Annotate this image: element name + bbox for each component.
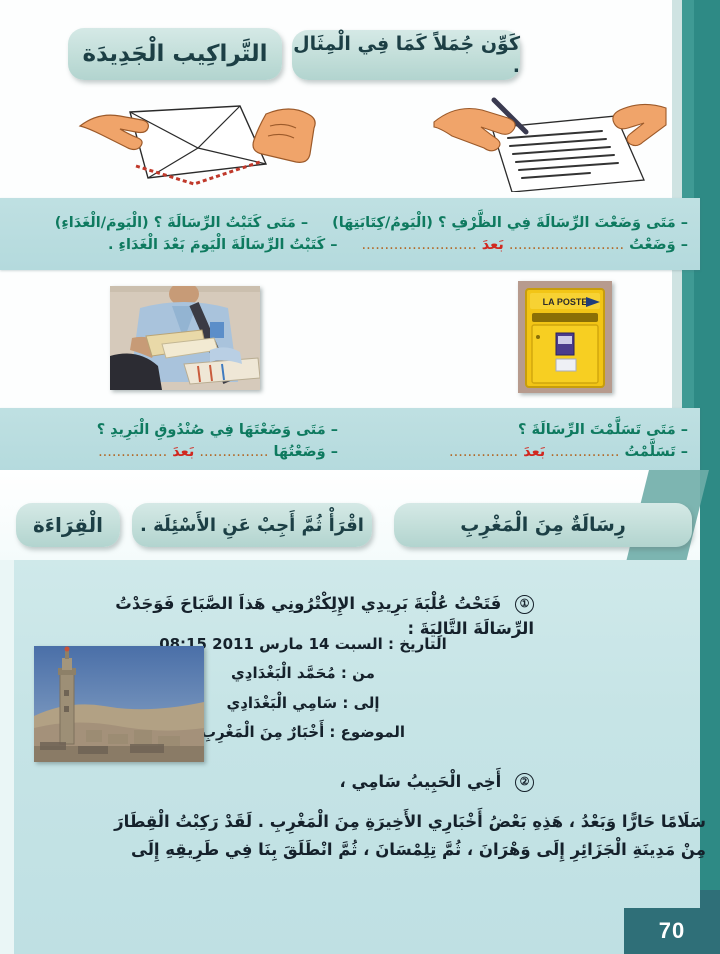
textbook-page: التَّراكِيب الْجَدِيدَة كَوِّن جُمَلاً ك… xyxy=(0,0,720,954)
reading-body: سَلَامًا حَارًّا وَبَعْدُ ، هَذِهِ بَعْض… xyxy=(30,808,706,865)
hands-with-envelope xyxy=(70,92,320,188)
lesson-title-pill: رِسَالَةٌ مِنَ الْمَغْرِبِ xyxy=(394,503,692,547)
exercise1-blank-a[interactable]: ......................... xyxy=(509,237,624,253)
hand-writing-letter xyxy=(430,88,670,192)
exercise1-blank-b[interactable]: ......................... xyxy=(361,237,476,253)
exercise2-left-blank-b[interactable]: ............... xyxy=(449,444,518,460)
exercise2-right-answer-prefix: – وَضَعْتُهَا xyxy=(274,444,338,460)
reading-body-line-2: مِنْ مَدِينَةِ الْجَزَائِرِ إِلَى وَهْرَ… xyxy=(30,836,706,864)
reading-title-text: الْقِرَاءَة xyxy=(33,513,103,537)
exercise2-left-answer-prefix: – تَسَلَّمْتُ xyxy=(625,444,689,460)
exercise2-left-question: – مَتَى تَسَلَّمْتَ الرِّسَالَةَ ؟ xyxy=(362,419,688,441)
exercise1-task-question: – مَتَى وَضَعْتَ الرِّسَالَةَ فِي الظَّر… xyxy=(332,212,688,234)
exercise1-example-answer-cell: – كَتَبْتُ الرِّسَالَةَ الْيَومَ بَعْدَ … xyxy=(0,234,349,256)
exercise1-answer-row: – وَضَعْتُ ......................... بَع… xyxy=(0,234,700,256)
reading-left-margin xyxy=(0,560,14,954)
exercise2-right-blank-a[interactable]: ............... xyxy=(199,444,268,460)
exercise1-task-question-cell: – مَتَى وَضَعْتَ الرِّسَالَةَ فِي الظَّر… xyxy=(320,212,700,234)
exercise2-left-blank-a[interactable]: ............... xyxy=(550,444,619,460)
section-title-pill: التَّراكِيب الْجَدِيدَة xyxy=(68,28,282,80)
mailbox-photo: LA POSTE xyxy=(518,281,612,393)
exercise1-task-answer-prefix: – وَضَعْتُ xyxy=(629,237,688,253)
page-number: 70 xyxy=(624,908,720,954)
postman-photo xyxy=(110,286,260,390)
exercise2-left-answer-cell[interactable]: – تَسَلَّمْتُ ............... بَعدَ ....… xyxy=(350,441,700,463)
minaret-city-photo xyxy=(34,646,204,762)
exercise2-right-answer-cell[interactable]: – وَضَعْتُهَا ............... بَعدَ ....… xyxy=(0,441,350,463)
section-title-text: التَّراكِيب الْجَدِيدَة xyxy=(82,41,267,67)
exercise2-left-question-cell: – مَتَى تَسَلَّمْتَ الرِّسَالَةَ ؟ xyxy=(350,419,700,441)
page-number-text: 70 xyxy=(659,918,685,944)
reading-instruction-pill: اقْرَأْ ثُمَّ أَجِبْ عَنِ الأَسْئِلَة . xyxy=(132,503,372,547)
exercise-band-2: – مَتَى تَسَلَّمْتَ الرِّسَالَةَ ؟ – مَت… xyxy=(0,408,700,474)
reading-instruction-text: اقْرَأْ ثُمَّ أَجِبْ عَنِ الأَسْئِلَة . xyxy=(140,515,364,536)
exercise1-question-row: – مَتَى وَضَعْتَ الرِّسَالَةَ فِي الظَّر… xyxy=(0,212,700,234)
exercise2-answer-row: – تَسَلَّمْتُ ............... بَعدَ ....… xyxy=(0,441,700,463)
exercise2-right-question: – مَتَى وَضَعْتَهَا فِي صُنْدُوقِ الْبَر… xyxy=(12,419,338,441)
item-number-2: ② xyxy=(515,773,534,792)
instruction-pill: كَوِّن جُمَلاً كَمَا فِي الْمِثَال . xyxy=(292,30,520,80)
exercise-band-1: – مَتَى وَضَعْتَ الرِّسَالَةَ فِي الظَّر… xyxy=(0,198,700,270)
exercise2-right-answer-mid: بَعدَ xyxy=(172,444,194,460)
lesson-title-text: رِسَالَةٌ مِنَ الْمَغْرِبِ xyxy=(460,514,626,536)
exercise1-example-question-cell: – مَتَى كَتَبْتُ الرِّسَالَةَ ؟ (الْيَوم… xyxy=(0,212,320,234)
exercise1-example-answer: – كَتَبْتُ الرِّسَالَةَ الْيَومَ بَعْدَ … xyxy=(12,234,337,256)
reading-item-2: ② أَخِي الْحَبِيبُ سَامِي ، xyxy=(64,772,534,792)
exercise2-right-question-cell: – مَتَى وَضَعْتَهَا فِي صُنْدُوقِ الْبَر… xyxy=(0,419,350,441)
exercise2-left-answer-mid: بَعدَ xyxy=(523,444,545,460)
instruction-text: كَوِّن جُمَلاً كَمَا فِي الْمِثَال . xyxy=(292,33,520,77)
exercise1-example-question: – مَتَى كَتَبْتُ الرِّسَالَةَ ؟ (الْيَوم… xyxy=(12,212,308,234)
exercise1-task-answer-mid: بَعدَ xyxy=(482,237,504,253)
reading-salutation: أَخِي الْحَبِيبُ سَامِي ، xyxy=(339,772,501,791)
exercise1-task-answer-cell[interactable]: – وَضَعْتُ ......................... بَع… xyxy=(349,234,700,256)
item-number-1: ① xyxy=(515,595,534,614)
exercise2-question-row: – مَتَى تَسَلَّمْتَ الرِّسَالَةَ ؟ – مَت… xyxy=(0,419,700,441)
reading-body-line-1: سَلَامًا حَارًّا وَبَعْدُ ، هَذِهِ بَعْض… xyxy=(30,808,706,836)
reading-title-pill: الْقِرَاءَة xyxy=(16,503,120,547)
mailbox-label: LA POSTE xyxy=(543,297,588,307)
exercise2-right-blank-b[interactable]: ............... xyxy=(98,444,167,460)
